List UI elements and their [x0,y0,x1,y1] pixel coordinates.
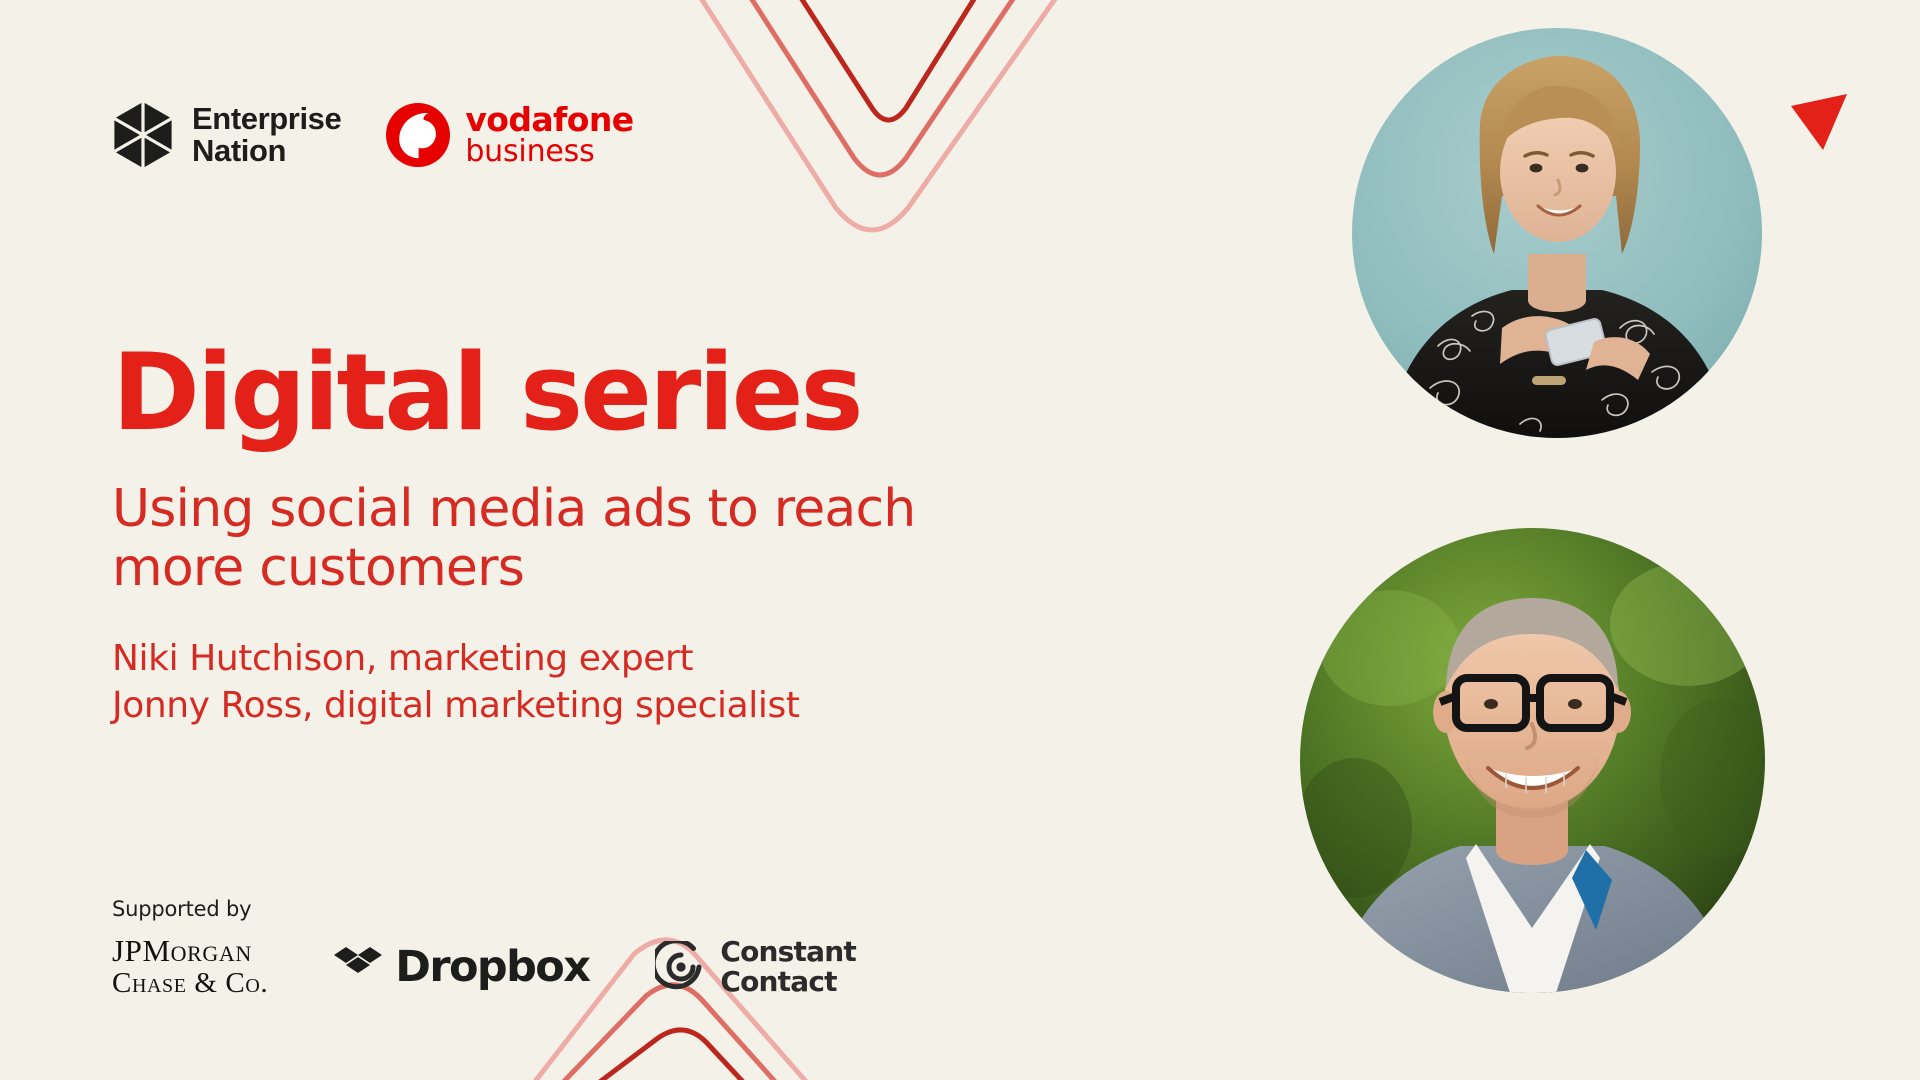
dropbox-wordmark: Dropbox [395,942,589,992]
vodafone-speechmark-icon [385,102,451,168]
jpmorgan-chase-logo: JPMorgan Chase & Co. [112,935,268,998]
speaker-line: Jonny Ross, digital marketing specialist [112,682,1032,730]
constant-contact-line1: Constant [720,937,856,967]
vodafone-business-logo: vodafone business [385,102,633,168]
speaker-photo-jonny-ross [1300,528,1765,993]
constant-contact-target-icon [655,941,707,993]
speaker-line: Niki Hutchison, marketing expert [112,635,1032,683]
page-subtitle: Using social media ads to reach more cus… [112,480,992,599]
enterprise-nation-line1: Enterprise [192,103,341,135]
dropbox-boxes-icon [334,945,382,989]
red-triangle-decoration [1785,78,1865,158]
page-title: Digital series [112,340,1032,446]
vodafone-name: vodafone [465,103,633,137]
supporters-block: Supported by JPMorgan Chase & Co. Dropbo… [112,897,856,998]
supporter-logo-row: JPMorgan Chase & Co. Dropbox [112,935,856,998]
constant-contact-line2: Contact [720,967,856,997]
constant-contact-wordmark: Constant Contact [720,937,856,997]
speaker-list: Niki Hutchison, marketing expert Jonny R… [112,635,1032,730]
slide-canvas: Enterprise Nation vodafone business Digi… [0,0,1920,1080]
supported-by-label: Supported by [112,897,856,921]
enterprise-nation-line2: Nation [192,135,341,167]
main-copy-block: Digital series Using social media ads to… [112,340,1032,730]
constant-contact-logo: Constant Contact [655,937,856,997]
jpmorgan-line1: JPMorgan [112,935,268,968]
enterprise-nation-logo: Enterprise Nation [112,100,341,170]
nested-chevron-outline-decoration [640,0,1160,270]
enterprise-nation-wordmark: Enterprise Nation [192,103,341,166]
dropbox-logo: Dropbox [334,942,589,992]
partner-logo-bar: Enterprise Nation vodafone business [112,100,634,170]
jpmorgan-line2: Chase & Co. [112,968,268,998]
hexagon-pinwheel-icon [112,100,174,170]
vodafone-sub: business [465,137,633,168]
vodafone-wordmark: vodafone business [465,103,633,168]
speaker-photo-niki-hutchison [1352,28,1762,438]
